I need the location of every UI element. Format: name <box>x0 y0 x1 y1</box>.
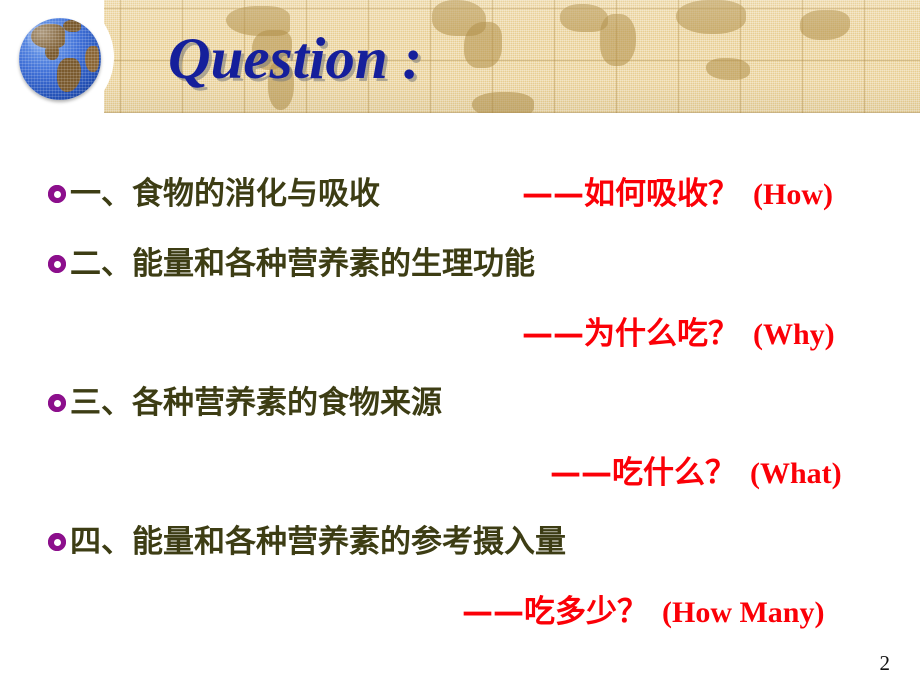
annotation-text-cn: ——为什么吃？ <box>522 316 739 352</box>
list-item[interactable]: 三、各种营养素的食物来源 <box>48 385 884 421</box>
list-item-label: 四、能量和各种营养素的参考摄入量 <box>70 524 566 560</box>
list-item[interactable]: 四、能量和各种营养素的参考摄入量 <box>48 524 884 560</box>
globe-icon <box>19 18 101 100</box>
ring-bullet-icon <box>48 394 66 412</box>
globe-highlight <box>27 23 70 56</box>
list-item-label: 三、各种营养素的食物来源 <box>70 385 442 421</box>
annotation-how: ——如何吸收？ (How) <box>522 176 833 213</box>
banner-background <box>0 0 920 113</box>
annotation-how-many: ——吃多少？ (How Many) <box>462 594 824 631</box>
ring-bullet-icon <box>48 533 66 551</box>
annotation-text-cn: ——如何吸收？ <box>522 176 739 212</box>
ring-bullet-icon <box>48 185 66 203</box>
page-number: 2 <box>880 651 891 676</box>
page-title: Question : <box>168 26 422 90</box>
ring-bullet-icon <box>48 255 66 273</box>
annotation-text-en: (How Many) <box>662 595 824 631</box>
annotation-what: ——吃什么？ (What) <box>550 455 842 492</box>
list-item-label: 二、能量和各种营养素的生理功能 <box>70 246 535 282</box>
list-item[interactable]: 二、能量和各种营养素的生理功能 <box>48 246 884 282</box>
annotation-text-en: (How) <box>753 177 833 213</box>
list-item-label: 一、食物的消化与吸收 <box>70 176 380 212</box>
annotation-text-cn: ——吃多少？ <box>462 594 648 630</box>
annotation-text-en: (What) <box>750 456 842 492</box>
annotation-text-cn: ——吃什么？ <box>550 455 736 491</box>
annotation-text-en: (Why) <box>753 317 835 353</box>
header-banner: Question : <box>0 0 920 113</box>
banner-shading <box>0 0 920 113</box>
annotation-why: ——为什么吃？ (Why) <box>522 316 835 353</box>
